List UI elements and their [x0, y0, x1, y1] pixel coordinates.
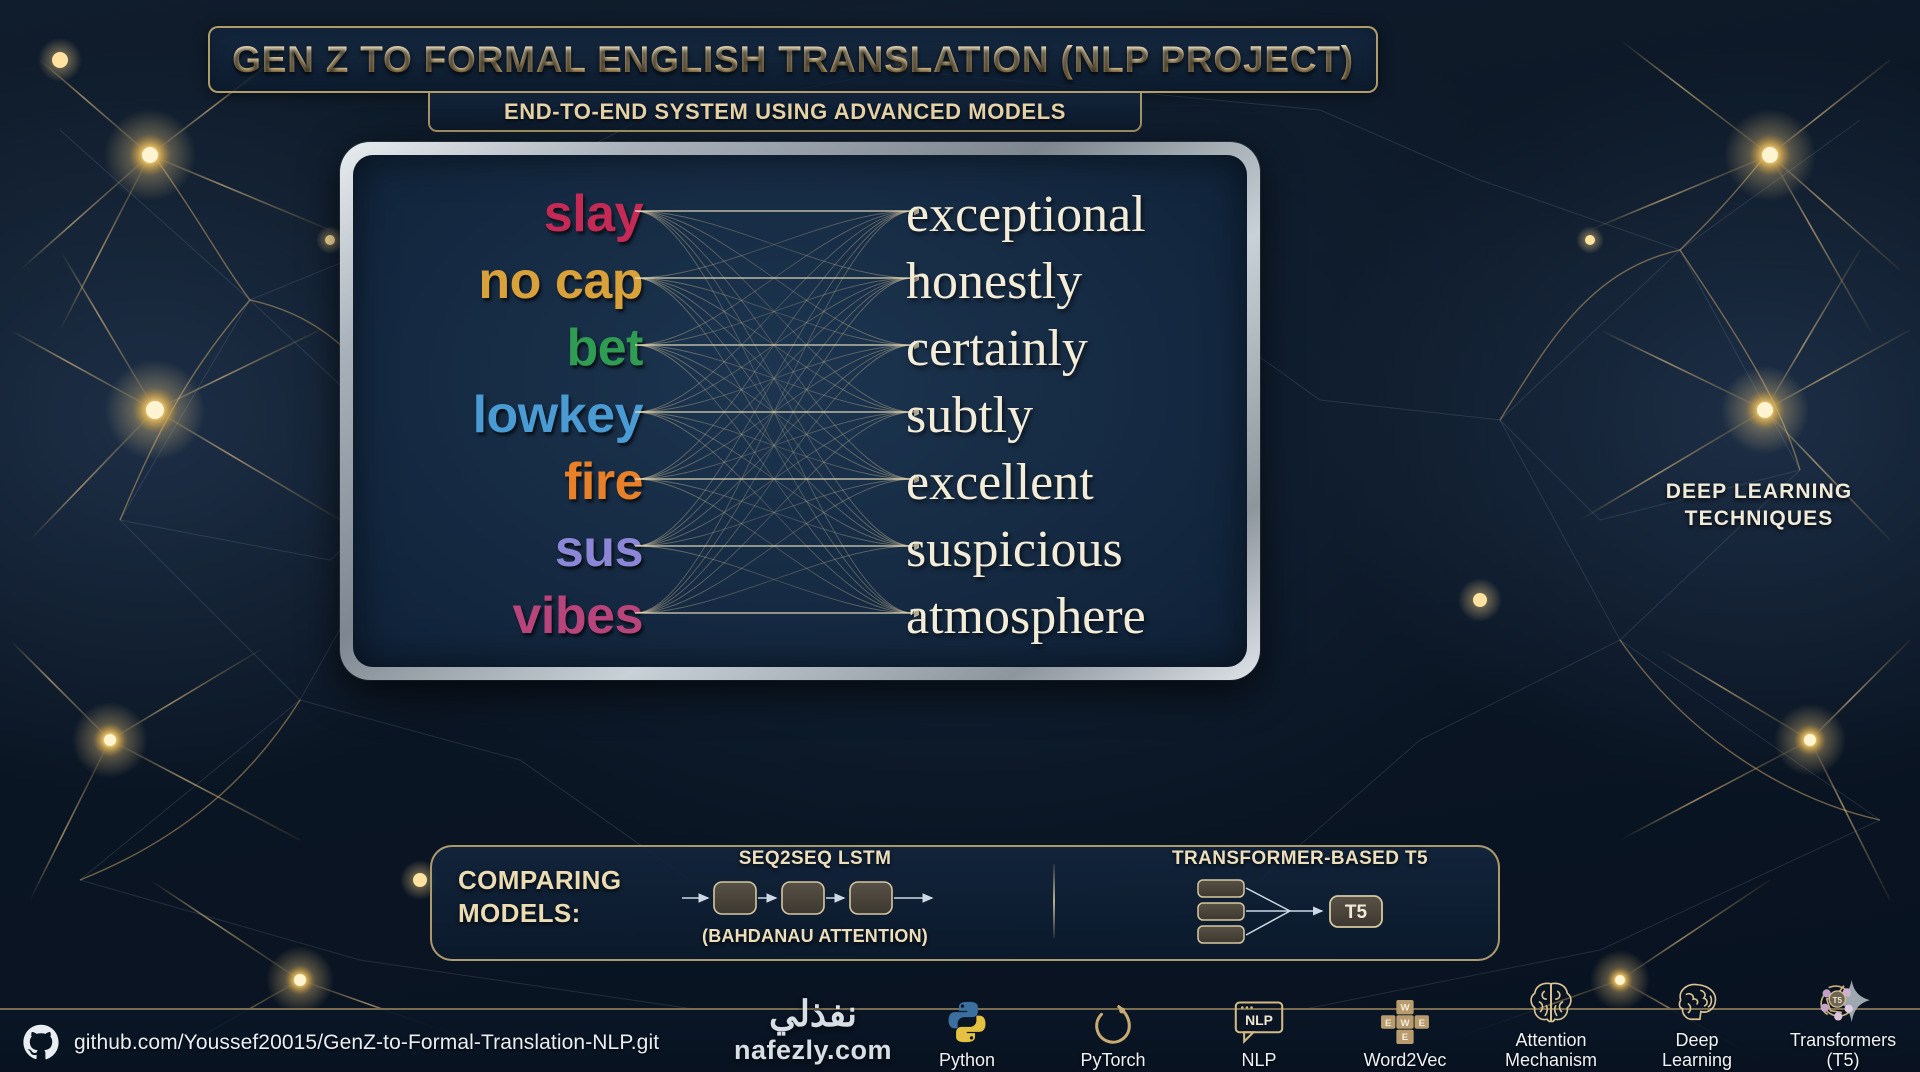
poster-root: GEN Z TO FORMAL ENGLISH TRANSLATION (NLP…: [0, 0, 1920, 1072]
slang-term: lowkey: [473, 382, 643, 449]
tech-label: NLP: [1241, 1050, 1276, 1070]
comparing-models-heading: COMPARING MODELS:: [458, 864, 658, 930]
tech-label: Python: [939, 1050, 995, 1070]
page-subtitle: END-TO-END SYSTEM USING ADVANCED MODELS: [504, 99, 1066, 125]
tech-item: PyTorch: [1046, 997, 1180, 1070]
svg-text:T5: T5: [1345, 902, 1368, 923]
translation-board: slayno capbetlowkeyfiresusvibes exceptio…: [340, 142, 1260, 680]
python-icon: [944, 997, 990, 1047]
formal-term: suspicious: [906, 516, 1123, 583]
nlp-bubble-icon: NLP: [1233, 997, 1285, 1047]
transformer-title: TRANSFORMER-BASED T5: [1130, 848, 1470, 870]
formal-term: exceptional: [906, 181, 1146, 248]
tech-item: T5 Transformers(T5): [1776, 977, 1910, 1070]
title-frame: GEN Z TO FORMAL ENGLISH TRANSLATION (NLP…: [208, 26, 1378, 93]
brain-icon: [1526, 977, 1576, 1027]
formal-term: atmosphere: [906, 583, 1146, 650]
tech-label: Word2Vec: [1364, 1050, 1447, 1070]
lstm-diagram: [680, 872, 940, 924]
svg-text:T5: T5: [1832, 996, 1842, 1005]
cmp-line-2: MODELS:: [458, 897, 658, 930]
cmp-line-1: COMPARING: [458, 864, 658, 897]
brain-side-icon: [1670, 977, 1724, 1027]
svg-text:NLP: NLP: [1245, 1012, 1273, 1028]
tech-item: AttentionMechanism: [1484, 977, 1618, 1070]
dl-line-1: DEEP LEARNING: [1594, 478, 1920, 505]
tech-item: Python: [900, 997, 1034, 1070]
tech-item: NLP NLP: [1192, 997, 1326, 1070]
tech-label: PyTorch: [1080, 1050, 1145, 1070]
deep-learning-techniques-label: DEEP LEARNING TECHNIQUES: [1594, 478, 1920, 532]
github-icon: [22, 1024, 60, 1062]
svg-text:E: E: [1385, 1018, 1392, 1029]
transformer-star-icon: T5: [1815, 977, 1871, 1027]
lstm-title: SEQ2SEQ LSTM: [690, 848, 940, 870]
slang-column: slayno capbetlowkeyfiresusvibes: [353, 181, 643, 650]
slang-term: vibes: [513, 583, 643, 650]
panel-divider: [1053, 864, 1055, 938]
tech-item: WE WEE Word2Vec: [1338, 997, 1472, 1070]
pytorch-icon: [1092, 997, 1134, 1047]
tech-label: DeepLearning: [1662, 1030, 1732, 1070]
subtitle-frame: END-TO-END SYSTEM USING ADVANCED MODELS: [428, 93, 1142, 132]
formal-column: exceptionalhonestlycertainlysubtlyexcell…: [906, 181, 1247, 650]
dl-line-2: TECHNIQUES: [1594, 505, 1920, 532]
transformer-diagram: T5: [1180, 876, 1430, 948]
mapping-connections: [629, 189, 919, 639]
svg-text:W: W: [1400, 1018, 1410, 1029]
word2vec-icon: WE WEE: [1380, 997, 1430, 1047]
page-title: GEN Z TO FORMAL ENGLISH TRANSLATION (NLP…: [232, 39, 1354, 81]
tech-label: AttentionMechanism: [1505, 1030, 1597, 1070]
github-link[interactable]: github.com/Youssef20015/GenZ-to-Formal-T…: [22, 1024, 659, 1062]
footer-bar: github.com/Youssef20015/GenZ-to-Formal-T…: [0, 1008, 1920, 1072]
formal-term: certainly: [906, 315, 1088, 382]
formal-term: honestly: [906, 248, 1082, 315]
translation-board-screen: slayno capbetlowkeyfiresusvibes exceptio…: [353, 155, 1247, 667]
slang-term: no cap: [478, 248, 643, 315]
tech-item: DeepLearning: [1630, 977, 1764, 1070]
tech-label: Transformers(T5): [1790, 1030, 1896, 1070]
formal-term: subtly: [906, 382, 1033, 449]
github-url-text: github.com/Youssef20015/GenZ-to-Formal-T…: [74, 1031, 659, 1055]
svg-text:W: W: [1400, 1003, 1410, 1014]
svg-text:E: E: [1419, 1018, 1426, 1029]
svg-text:E: E: [1402, 1032, 1409, 1043]
tech-stack-row: Python PyTorch NLP NLP WE WEE: [900, 970, 1910, 1070]
lstm-subtitle: (BAHDANAU ATTENTION): [660, 926, 970, 947]
formal-term: excellent: [906, 449, 1094, 516]
